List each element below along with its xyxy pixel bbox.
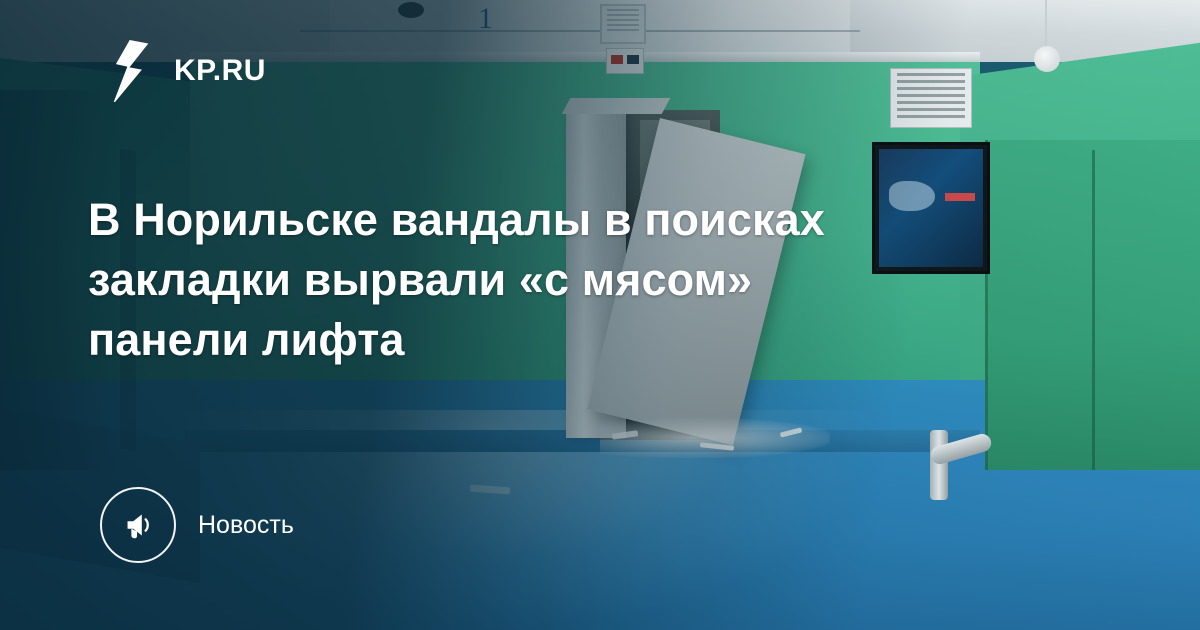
headline-line-1: В Норильске вандалы в поисках <box>88 190 1048 250</box>
headline-line-3: панели лифта <box>88 310 1048 370</box>
category-badge[interactable]: Новость <box>100 487 294 563</box>
megaphone-icon <box>100 487 176 563</box>
headline: В Норильске вандалы в поисках закладки в… <box>88 190 1048 370</box>
card-content: KP.RU В Норильске вандалы в поисках закл… <box>0 0 1200 630</box>
brand-block[interactable]: KP.RU <box>104 40 266 102</box>
headline-line-2: закладки вырвали «с мясом» <box>88 250 1048 310</box>
brand-name: KP.RU <box>174 54 266 88</box>
category-badge-label: Новость <box>198 511 294 540</box>
kp-bird-logo-icon <box>104 40 160 102</box>
social-share-card: 1 KP.RU В Норильске вандалы в поисках за… <box>0 0 1200 630</box>
